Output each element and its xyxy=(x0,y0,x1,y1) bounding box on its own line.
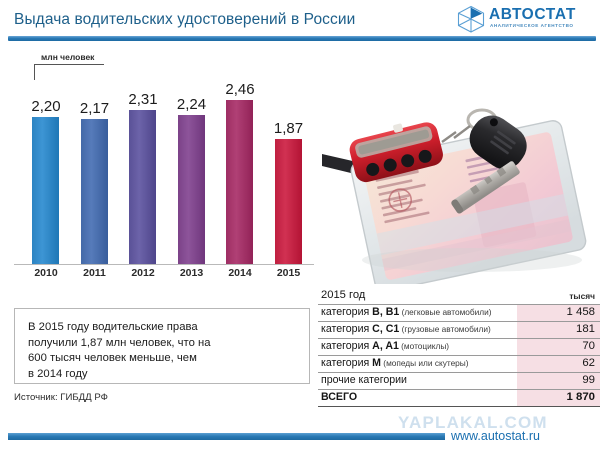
table-row-value: 99 xyxy=(582,374,595,386)
table-row-category: C, C1 xyxy=(372,323,399,335)
table-header-unit: тысяч xyxy=(569,291,595,301)
bar-value-label: 2,31 xyxy=(119,91,167,108)
summary-text: В 2015 году водительские права получили … xyxy=(28,320,298,382)
chart-axis-line xyxy=(14,264,314,265)
table-row-label: категория A, A1 (мотоциклы) xyxy=(321,340,449,352)
bar-rect xyxy=(32,117,59,264)
categories-table: 2015 год тысяч категория B, B1 (легковые… xyxy=(318,288,600,407)
table-row-value: 1 870 xyxy=(566,391,595,403)
table-row-label: прочие категории xyxy=(321,374,407,386)
table-header-label: 2015 год xyxy=(321,289,365,301)
axis-label-2010: 2010 xyxy=(22,267,70,279)
footer-divider xyxy=(8,433,445,440)
table-row-label: категория M (мопеды или скутеры) xyxy=(321,357,469,369)
bar-value-label: 1,87 xyxy=(265,120,313,137)
table-row-label: категория B, B1 (легковые автомобили) xyxy=(321,306,492,318)
axis-label-2012: 2012 xyxy=(119,267,167,279)
bar-rect xyxy=(129,110,156,264)
chart-bar-2015: 1,87 xyxy=(265,78,313,264)
logo-tagline: АНАЛИТИЧЕСКОЕ АГЕНТСТВО xyxy=(490,23,574,28)
header-divider xyxy=(8,36,596,41)
axis-label-2011: 2011 xyxy=(71,267,119,279)
chart-bar-2013: 2,24 xyxy=(168,78,216,264)
driving-licence-photo xyxy=(322,62,600,284)
logo-wordmark: АВТОСТАТ xyxy=(489,6,576,23)
table-row: категория M (мопеды или скутеры)62 xyxy=(318,356,600,373)
table-row: категория A, A1 (мотоциклы)70 xyxy=(318,339,600,356)
table-row-value: 70 xyxy=(582,340,595,352)
bar-value-label: 2,17 xyxy=(71,100,119,117)
chart-plot-area: 2,202,172,312,242,461,87 xyxy=(14,78,314,264)
axis-label-2014: 2014 xyxy=(216,267,264,279)
chart-bar-2010: 2,20 xyxy=(22,78,70,264)
table-row-note: (мопеды или скутеры) xyxy=(381,358,469,368)
page-title: Выдача водительских удостоверений в Росс… xyxy=(14,11,355,29)
chart-bar-2012: 2,31 xyxy=(119,78,167,264)
table-row-note: (легковые автомобили) xyxy=(399,307,491,317)
bar-rect xyxy=(178,115,205,264)
axis-label-2015: 2015 xyxy=(265,267,313,279)
bar-value-label: 2,24 xyxy=(168,96,216,113)
table-header-row: 2015 год тысяч xyxy=(318,288,600,305)
source-text: Источник: ГИБДД РФ xyxy=(14,392,108,403)
table-row: прочие категории99 xyxy=(318,373,600,390)
bar-chart: млн человек 2,202,172,312,242,461,87 201… xyxy=(14,52,314,290)
bar-value-label: 2,46 xyxy=(216,81,264,98)
infographic-page: Выдача водительских удостоверений в Росс… xyxy=(0,0,604,451)
table-row-value: 62 xyxy=(582,357,595,369)
brand-logo: АВТОСТАТ АНАЛИТИЧЕСКОЕ АГЕНТСТВО xyxy=(456,4,598,36)
table-row-note: (мотоциклы) xyxy=(399,341,449,351)
photo-illustration xyxy=(322,62,600,284)
table-row-note: (грузовые автомобили) xyxy=(399,324,490,334)
table-row: ВСЕГО1 870 xyxy=(318,390,600,407)
bar-value-label: 2,20 xyxy=(22,98,70,115)
chart-units-label: млн человек xyxy=(41,52,94,62)
chart-bar-2011: 2,17 xyxy=(71,78,119,264)
table-row-category: A, A1 xyxy=(372,340,399,352)
table-row: категория B, B1 (легковые автомобили)1 4… xyxy=(318,305,600,322)
table-row-label: ВСЕГО xyxy=(321,391,357,403)
footer-url[interactable]: www.autostat.ru xyxy=(451,429,540,443)
summary-box: В 2015 году водительские права получили … xyxy=(14,308,310,384)
axis-label-2013: 2013 xyxy=(168,267,216,279)
table-row-category: B, B1 xyxy=(372,306,399,318)
autostat-logo-icon xyxy=(456,5,486,33)
bar-rect xyxy=(81,119,108,264)
table-row-value: 181 xyxy=(576,323,595,335)
table-row: категория C, C1 (грузовые автомобили)181 xyxy=(318,322,600,339)
bar-rect xyxy=(226,100,253,264)
table-row-value: 1 458 xyxy=(566,306,595,318)
bar-rect xyxy=(275,139,302,264)
table-row-category: M xyxy=(372,357,381,369)
table-row-label: категория C, C1 (грузовые автомобили) xyxy=(321,323,491,335)
chart-bar-2014: 2,46 xyxy=(216,78,264,264)
